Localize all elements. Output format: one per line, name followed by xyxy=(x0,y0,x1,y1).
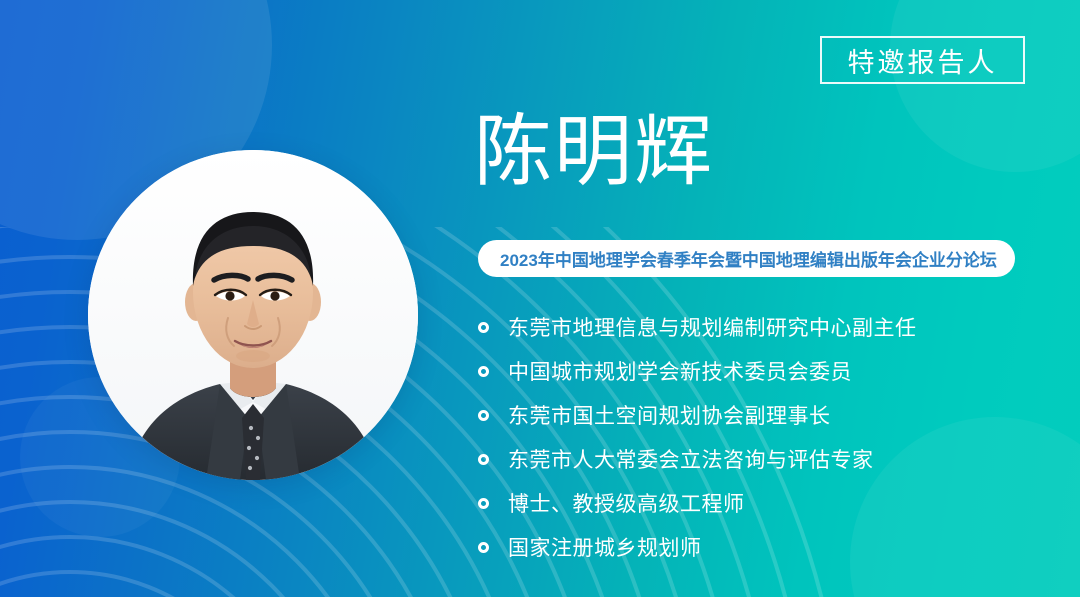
list-item: 中国城市规划学会新技术委员会委员 xyxy=(478,349,1038,393)
credential-text: 东莞市国土空间规划协会副理事长 xyxy=(508,400,831,430)
list-item: 东莞市国土空间规划协会副理事长 xyxy=(478,393,1038,437)
bullet-ring-icon xyxy=(478,454,489,465)
credential-text: 东莞市地理信息与规划编制研究中心副主任 xyxy=(508,312,917,342)
bullet-ring-icon xyxy=(478,542,489,553)
invited-speaker-badge-label: 特邀报告人 xyxy=(848,41,998,80)
credential-text: 国家注册城乡规划师 xyxy=(508,532,702,562)
list-item: 博士、教授级高级工程师 xyxy=(478,481,1038,525)
list-item: 国家注册城乡规划师 xyxy=(478,525,1038,569)
speaker-name: 陈明辉 xyxy=(474,112,714,190)
bullet-ring-icon xyxy=(478,498,489,509)
credential-text: 东莞市人大常委会立法咨询与评估专家 xyxy=(508,444,874,474)
decorative-circle-top-right xyxy=(890,0,1080,172)
credential-text: 中国城市规划学会新技术委员会委员 xyxy=(508,356,852,386)
invited-speaker-badge: 特邀报告人 xyxy=(820,36,1025,84)
event-title-label: 2023年中国地理学会春季年会暨中国地理编辑出版年会企业分论坛 xyxy=(500,246,997,271)
list-item: 东莞市人大常委会立法咨询与评估专家 xyxy=(478,437,1038,481)
bullet-ring-icon xyxy=(478,322,489,333)
speaker-portrait-avatar xyxy=(88,150,418,480)
credentials-list: 东莞市地理信息与规划编制研究中心副主任 中国城市规划学会新技术委员会委员 东莞市… xyxy=(478,305,1038,569)
event-title-pill: 2023年中国地理学会春季年会暨中国地理编辑出版年会企业分论坛 xyxy=(478,240,1015,277)
list-item: 东莞市地理信息与规划编制研究中心副主任 xyxy=(478,305,1038,349)
speaker-poster: 特邀报告人 陈明辉 2023年中国地理学会春季年会暨中国地理编辑出版年会企业分论… xyxy=(0,0,1080,597)
bullet-ring-icon xyxy=(478,366,489,377)
credential-text: 博士、教授级高级工程师 xyxy=(508,488,745,518)
bullet-ring-icon xyxy=(478,410,489,421)
